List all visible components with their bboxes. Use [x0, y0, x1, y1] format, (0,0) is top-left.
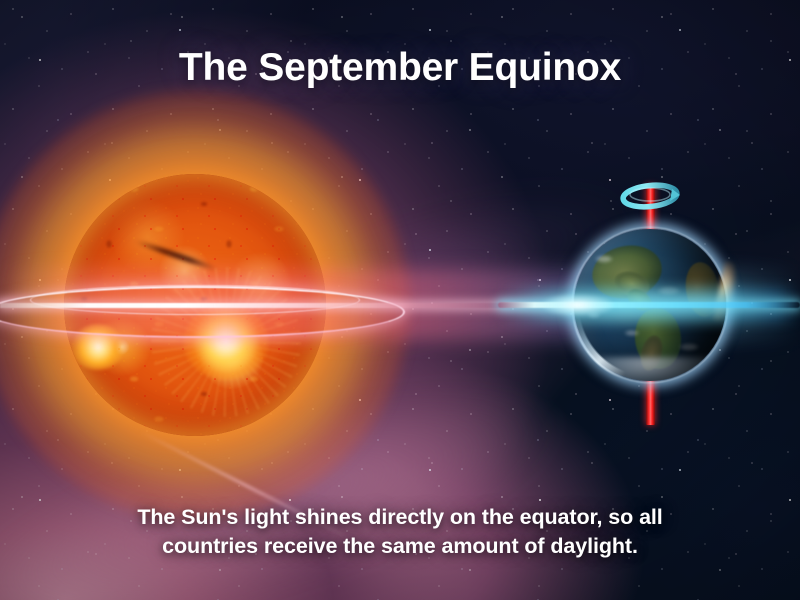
caption-line-1: The Sun's light shines directly on the e…: [50, 503, 750, 532]
equinox-infographic: The September Equinox The Sun's light sh…: [0, 0, 800, 600]
earth-rotation-direction-arrow: [616, 182, 684, 210]
caption-line-2: countries receive the same amount of day…: [50, 532, 750, 561]
equator-hotspot: [543, 294, 613, 316]
page-title: The September Equinox: [0, 46, 800, 90]
caption-block: The Sun's light shines directly on the e…: [50, 503, 750, 561]
sunlight-beam-inner-ring: [30, 285, 360, 315]
